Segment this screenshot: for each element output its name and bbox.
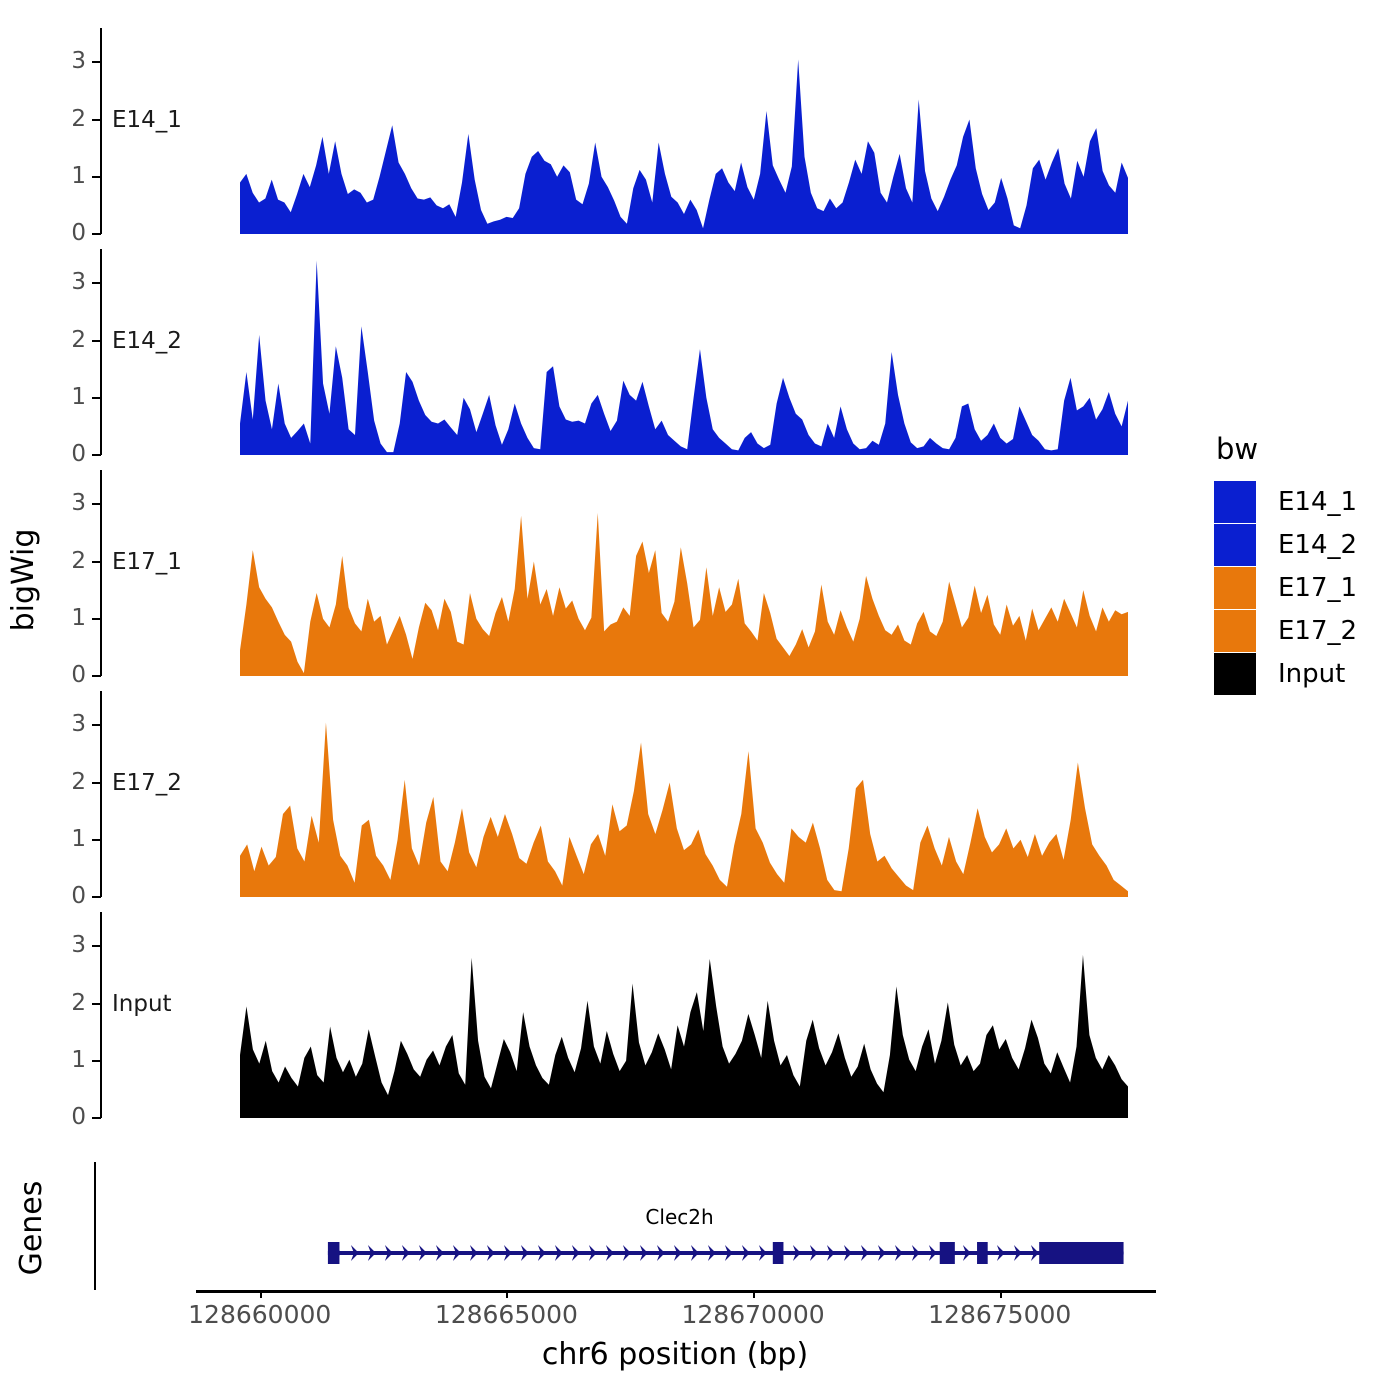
y-tick-label: 3 (56, 271, 86, 294)
y-tick-label: 3 (56, 50, 86, 73)
track-label-e14_1: E14_1 (112, 107, 182, 133)
gene-name-label: Clec2h (645, 1205, 713, 1229)
y-tick (92, 282, 101, 284)
x-tick (753, 1290, 755, 1298)
legend-swatch-icon (1214, 653, 1256, 695)
track-panel-e14_2: 0123E14_2 (0, 249, 1140, 455)
y-tick-label: 2 (56, 771, 86, 794)
track-panel-e17_2: 0123E17_2 (0, 691, 1140, 897)
y-tick (92, 503, 101, 505)
y-tick-label: 0 (56, 885, 86, 908)
legend-label: Input (1278, 659, 1345, 689)
track-panel-e17_1: 0123E17_1 (0, 470, 1140, 676)
y-tick-label: 2 (56, 992, 86, 1015)
y-tick-label: 1 (56, 607, 86, 630)
track-label-e17_1: E17_1 (112, 549, 182, 575)
genes-axis-line (94, 1162, 96, 1290)
y-tick-label: 0 (56, 1106, 86, 1129)
legend-label: E17_1 (1278, 573, 1357, 603)
y-tick (92, 176, 101, 178)
x-tick (260, 1290, 262, 1298)
y-tick (92, 1117, 101, 1119)
y-tick-label: 1 (56, 1049, 86, 1072)
legend-label: E17_2 (1278, 616, 1357, 646)
y-tick (92, 1003, 101, 1005)
y-tick-label: 3 (56, 713, 86, 736)
panel-axis-line (100, 912, 102, 1118)
x-tick (1000, 1290, 1002, 1298)
track-label-e17_2: E17_2 (112, 770, 182, 796)
x-axis-line (196, 1290, 1156, 1293)
y-tick-label: 0 (56, 443, 86, 466)
y-tick (92, 119, 101, 121)
y-tick (92, 233, 101, 235)
y-tick-label: 3 (56, 492, 86, 515)
y-tick-label: 3 (56, 934, 86, 957)
y-tick (92, 945, 101, 947)
y-tick-label: 0 (56, 664, 86, 687)
y-tick (92, 340, 101, 342)
signal-area-e17_2 (240, 691, 1128, 897)
y-tick (92, 454, 101, 456)
track-label-e14_2: E14_2 (112, 328, 182, 354)
y-tick (92, 397, 101, 399)
y-tick (92, 618, 101, 620)
y-tick (92, 896, 101, 898)
y-tick-label: 2 (56, 550, 86, 573)
legend-item-e14_1[interactable]: E14_1 (1214, 480, 1357, 523)
y-tick-label: 1 (56, 828, 86, 851)
panel-axis-line (100, 28, 102, 234)
legend-label: E14_2 (1278, 530, 1357, 560)
panel-axis-line (100, 470, 102, 676)
legend-item-e14_2[interactable]: E14_2 (1214, 523, 1357, 566)
signal-area-input (240, 912, 1128, 1118)
gene-model-track[interactable] (240, 1236, 1128, 1270)
legend-label: E14_1 (1278, 487, 1357, 517)
legend-item-e17_1[interactable]: E17_1 (1214, 566, 1357, 609)
signal-area-e17_1 (240, 470, 1128, 676)
genes-axis-title: Genes (14, 1138, 50, 1318)
y-tick (92, 561, 101, 563)
legend-item-input[interactable]: Input (1214, 652, 1357, 695)
y-tick-label: 2 (56, 108, 86, 131)
y-tick-label: 1 (56, 165, 86, 188)
y-tick-label: 2 (56, 329, 86, 352)
y-tick (92, 1060, 101, 1062)
y-tick-label: 0 (56, 222, 86, 245)
y-tick (92, 61, 101, 63)
y-tick-label: 1 (56, 386, 86, 409)
x-tick-label: 128670000 (681, 1300, 824, 1329)
panel-axis-line (100, 691, 102, 897)
legend-items: E14_1E14_2E17_1E17_2Input (1214, 480, 1357, 695)
x-tick-label: 128665000 (435, 1300, 578, 1329)
track-label-input: Input (112, 991, 172, 1017)
legend-item-e17_2[interactable]: E17_2 (1214, 609, 1357, 652)
y-tick (92, 724, 101, 726)
x-tick-label: 128660000 (188, 1300, 331, 1329)
x-axis-title: chr6 position (bp) (220, 1337, 1130, 1372)
y-tick (92, 782, 101, 784)
legend: bw E14_1E14_2E17_1E17_2Input (1214, 432, 1357, 695)
signal-area-e14_2 (240, 249, 1128, 455)
legend-swatch-icon (1214, 524, 1256, 566)
track-panel-input: 0123Input (0, 912, 1140, 1118)
legend-swatch-icon (1214, 567, 1256, 609)
legend-title: bw (1216, 432, 1357, 466)
x-tick (506, 1290, 508, 1298)
legend-swatch-icon (1214, 610, 1256, 652)
track-panel-e14_1: 0123E14_1 (0, 28, 1140, 234)
signal-area-e14_1 (240, 28, 1128, 234)
y-tick (92, 839, 101, 841)
panel-axis-line (100, 249, 102, 455)
y-tick (92, 675, 101, 677)
legend-swatch-icon (1214, 481, 1256, 523)
x-tick-label: 128675000 (928, 1300, 1071, 1329)
